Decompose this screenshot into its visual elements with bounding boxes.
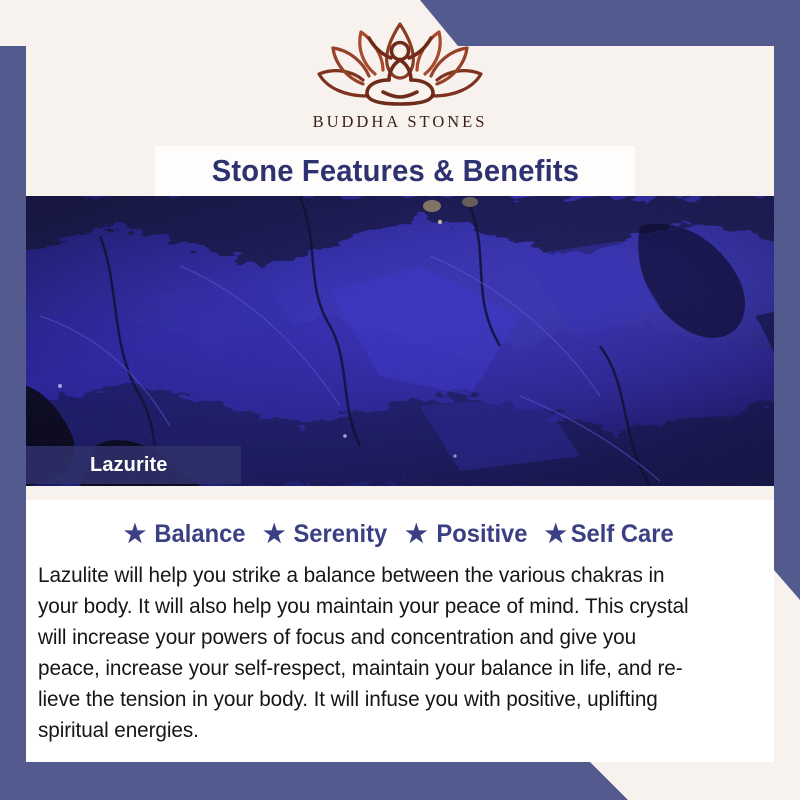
- description-line: Lazulite will help you strike a balance …: [38, 560, 735, 591]
- keyword-serenity: ★ Serenity: [263, 520, 390, 549]
- description-line: your body. It will also help you maintai…: [38, 591, 735, 622]
- keyword-self-care: ★ Self Care: [544, 520, 676, 549]
- stone-name-tag: Lazurite: [26, 446, 241, 484]
- keyword-balance: ★ Balance: [124, 520, 248, 549]
- star-icon: ★: [263, 522, 285, 547]
- keyword-label: Serenity: [294, 520, 388, 549]
- keyword-label: Balance: [155, 520, 246, 549]
- content-panel: ★ Balance ★ Serenity ★ Positive ★ Self C…: [26, 486, 774, 762]
- frame-accent-right: [774, 0, 800, 600]
- frame-accent-bottom: [0, 762, 800, 800]
- title-banner: Stone Features & Benefits: [155, 146, 635, 196]
- keyword-label: Positive: [436, 520, 527, 549]
- frame-accent-left: [0, 46, 26, 800]
- description-line: will increase your powers of focus and c…: [38, 622, 735, 653]
- description-line: spiritual energies.: [38, 715, 735, 746]
- star-icon: ★: [124, 522, 146, 547]
- stone-photo-graphic: [0, 196, 800, 486]
- stone-photo: [0, 196, 800, 486]
- panel-top-strip: [26, 486, 774, 500]
- description-line: peace, increase your self-respect, maint…: [38, 653, 735, 684]
- stone-description: Lazulite will help you strike a balance …: [38, 560, 760, 746]
- description-line: lieve the tension in your body. It will …: [38, 684, 735, 715]
- keyword-label: Self Care: [571, 520, 674, 549]
- keyword-positive: ★ Positive: [405, 520, 529, 549]
- infographic-card: BUDDHA STONES Stone Features & Benefits: [0, 0, 800, 800]
- star-icon: ★: [405, 522, 427, 547]
- keyword-row: ★ Balance ★ Serenity ★ Positive ★ Self C…: [26, 520, 774, 549]
- brand-wordmark: BUDDHA STONES: [313, 112, 488, 132]
- stone-name-label: Lazurite: [90, 454, 167, 477]
- star-icon: ★: [544, 522, 566, 547]
- page-title: Stone Features & Benefits: [211, 153, 578, 189]
